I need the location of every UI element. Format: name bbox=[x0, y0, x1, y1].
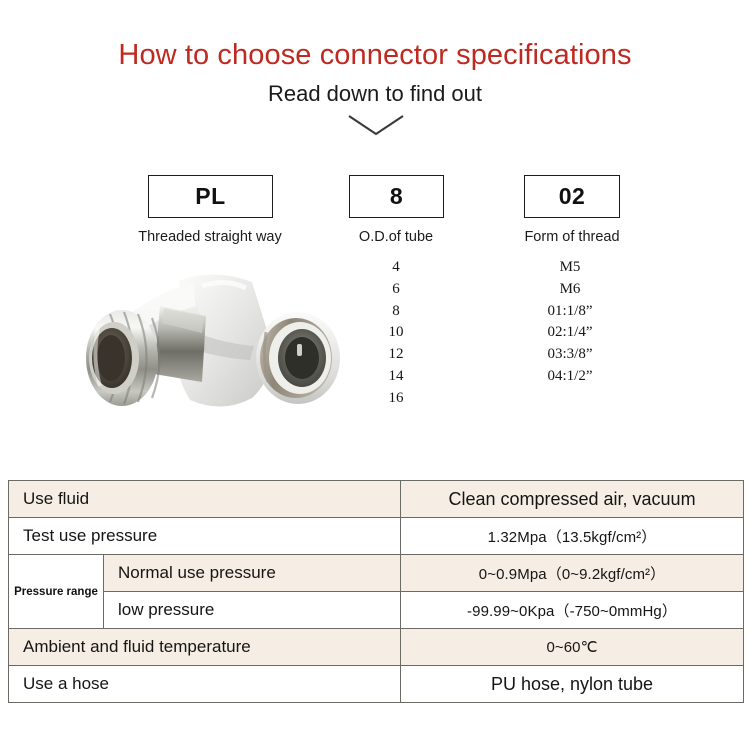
spec-value-low-pressure: -99.99~0Kpa（-750~0mmHg） bbox=[401, 592, 744, 629]
table-row: Test use pressure 1.32Mpa（13.5kgf/cm²） bbox=[9, 518, 744, 555]
spec-group-pressure-range: Pressure range bbox=[9, 555, 104, 629]
table-row: Use a hose PU hose, nylon tube bbox=[9, 666, 744, 703]
spec-label-test-use-pressure: Test use pressure bbox=[9, 518, 401, 555]
table-row: Ambient and fluid temperature 0~60℃ bbox=[9, 629, 744, 666]
product-spec-infographic: How to choose connector specifications R… bbox=[0, 0, 750, 750]
caption-series: Threaded straight way bbox=[60, 229, 360, 245]
spec-value-ambient-temperature: 0~60℃ bbox=[401, 629, 744, 666]
spec-value-test-use-pressure: 1.32Mpa（13.5kgf/cm²） bbox=[401, 518, 744, 555]
table-row: low pressure -99.99~0Kpa（-750~0mmHg） bbox=[9, 592, 744, 629]
spec-value-use-a-hose: PU hose, nylon tube bbox=[401, 666, 744, 703]
specification-table: Use fluid Clean compressed air, vacuum T… bbox=[8, 480, 744, 703]
chevron-down-icon bbox=[345, 112, 407, 140]
product-photo-elbow-fitting bbox=[52, 262, 372, 430]
spec-label-ambient-temperature: Ambient and fluid temperature bbox=[9, 629, 401, 666]
spec-label-use-fluid: Use fluid bbox=[9, 481, 401, 518]
spec-label-use-a-hose: Use a hose bbox=[9, 666, 401, 703]
list-item: 04:1/2” bbox=[495, 366, 645, 388]
page-subtitle: Read down to find out bbox=[0, 80, 750, 108]
table-row: Use fluid Clean compressed air, vacuum bbox=[9, 481, 744, 518]
caption-thread-form: Form of thread bbox=[492, 229, 652, 245]
page-title: How to choose connector specifications bbox=[0, 38, 750, 72]
list-item: M6 bbox=[495, 279, 645, 301]
code-box-thread-form[interactable]: 02 bbox=[524, 175, 620, 218]
spec-label-low-pressure: low pressure bbox=[104, 592, 401, 629]
spec-label-normal-use-pressure: Normal use pressure bbox=[104, 555, 401, 592]
list-item: 02:1/4” bbox=[495, 322, 645, 344]
code-box-tube-od[interactable]: 8 bbox=[349, 175, 444, 218]
list-item: 03:3/8” bbox=[495, 344, 645, 366]
list-item: M5 bbox=[495, 257, 645, 279]
caption-tube-od: O.D.of tube bbox=[316, 229, 476, 245]
option-list-thread-form: M5 M6 01:1/8” 02:1/4” 03:3/8” 04:1/2” bbox=[495, 257, 645, 388]
table-row: Pressure range Normal use pressure 0~0.9… bbox=[9, 555, 744, 592]
list-item: 01:1/8” bbox=[495, 301, 645, 323]
spec-value-use-fluid: Clean compressed air, vacuum bbox=[401, 481, 744, 518]
spec-value-normal-use-pressure: 0~0.9Mpa（0~9.2kgf/cm²） bbox=[401, 555, 744, 592]
code-box-series[interactable]: PL bbox=[148, 175, 273, 218]
